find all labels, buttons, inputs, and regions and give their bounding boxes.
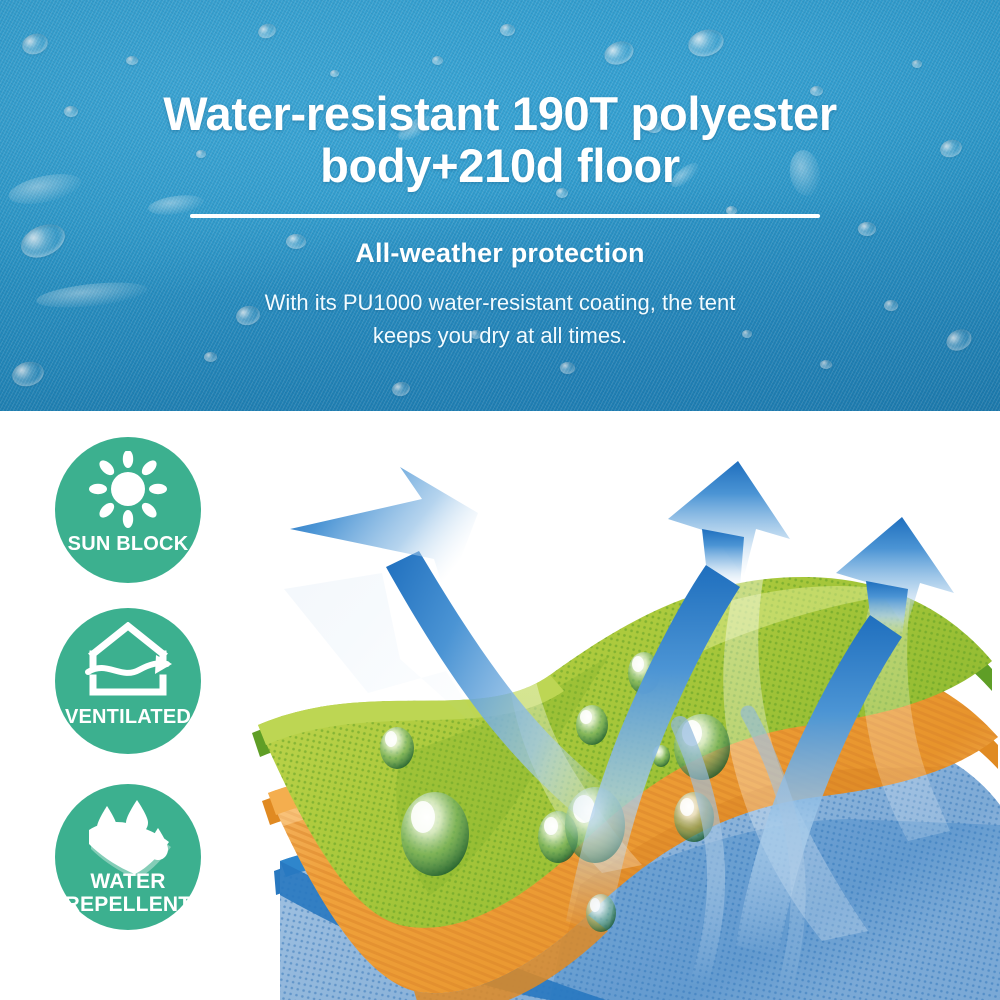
- headline-line-2: body+210d floor: [0, 140, 1000, 192]
- water-droplet: [380, 727, 414, 769]
- badge-label: WATER REPELLENT: [55, 870, 201, 916]
- house-airflow-icon: [55, 622, 201, 700]
- badge-label-line-1: WATER: [55, 870, 201, 893]
- headline-line-1: Water-resistant 190T polyester: [0, 88, 1000, 140]
- feature-badge-sun-block[interactable]: SUN BLOCK: [55, 437, 201, 583]
- hero-banner: Water-resistant 190T polyester body+210d…: [0, 0, 1000, 411]
- feature-badge-ventilated[interactable]: VENTILATED: [55, 608, 201, 754]
- badge-label: SUN BLOCK: [55, 533, 201, 555]
- fabric-layers-illustration: [250, 425, 1000, 1000]
- body-line-2: keeps you dry at all times.: [0, 319, 1000, 352]
- banner-subheadline: All-weather protection: [0, 238, 1000, 269]
- badge-label-line-2: REPELLENT: [55, 893, 201, 916]
- page-headline: Water-resistant 190T polyester body+210d…: [0, 88, 1000, 192]
- water-droplet: [401, 792, 469, 876]
- body-line-1: With its PU1000 water-resistant coating,…: [0, 286, 1000, 319]
- fabric-droplets-icon: [55, 798, 201, 876]
- feature-badge-water-repellent[interactable]: WATER REPELLENT: [55, 784, 201, 930]
- banner-body-copy: With its PU1000 water-resistant coating,…: [0, 286, 1000, 352]
- sun-icon: [55, 451, 201, 529]
- product-feature-infographic: Water-resistant 190T polyester body+210d…: [0, 0, 1000, 1000]
- headline-divider: [190, 214, 820, 218]
- water-droplet: [576, 705, 608, 745]
- badge-label: VENTILATED: [55, 706, 201, 728]
